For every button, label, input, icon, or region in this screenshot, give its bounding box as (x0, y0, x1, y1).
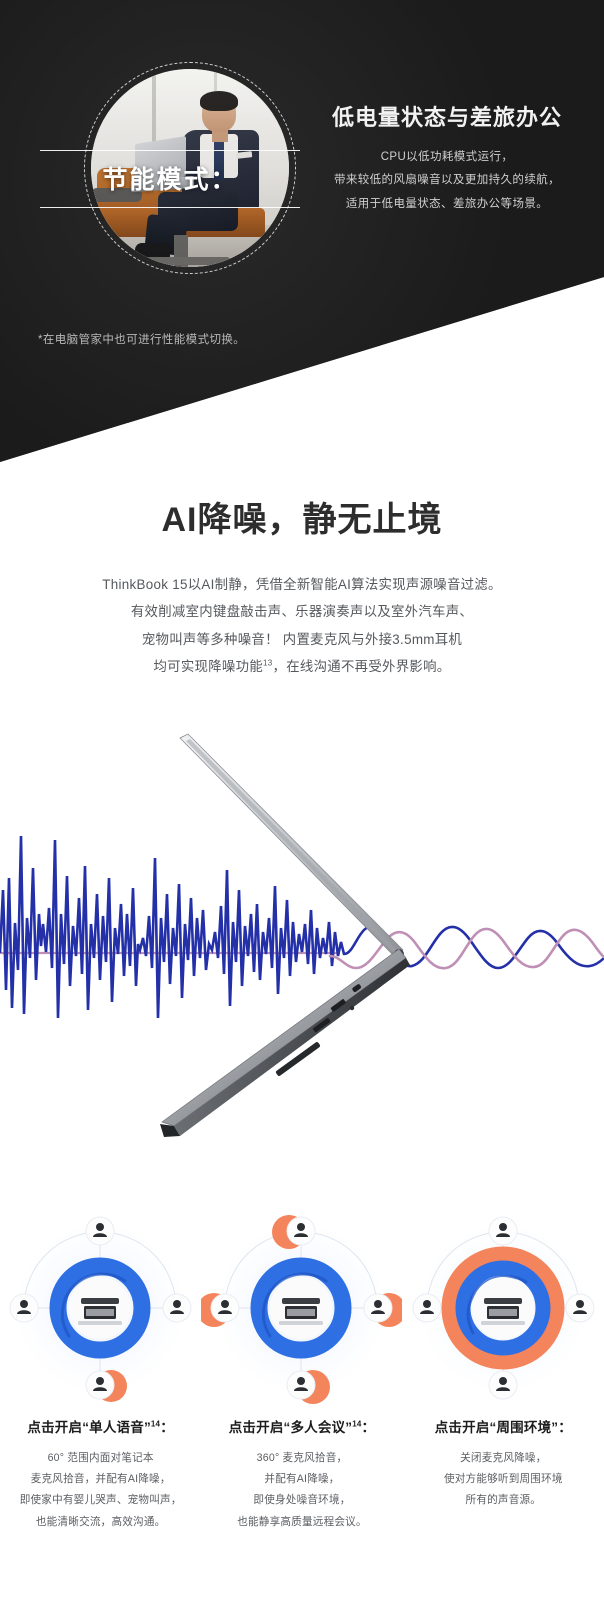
panel-body-line: 即使身处噪音环境， (201, 1490, 402, 1511)
person-badge-east (566, 1294, 594, 1322)
panel-body-ambient-environment: 关闭麦克风降噪， 使对方能够听到周围环境 所有的声音源。 (403, 1448, 604, 1512)
mic-mode-panel-single-voice[interactable]: 点击开启“单人语音”14： 60° 范围内面对笔记本 麦克风拾音，并配有AI降噪… (0, 1205, 201, 1600)
person-badge-south (86, 1371, 114, 1399)
panel-body-multi-conference: 360° 麦克风拾音， 并配有AI降噪， 即使身处噪音环境， 也能静享高质量远程… (201, 1448, 402, 1533)
person-badge-east (163, 1294, 191, 1322)
ai-section-title: AI降噪，静无止境 (0, 492, 604, 541)
power-mode-description-line: 适用于低电量状态、差旅办公等场景。 (300, 193, 594, 217)
panel-body-line: 麦克风拾音，并配有AI降噪， (0, 1469, 201, 1490)
mic-mode-panels: 点击开启“单人语音”14： 60° 范围内面对笔记本 麦克风拾音，并配有AI降噪… (0, 1205, 604, 1600)
power-mode-badge: 节能模式： (40, 150, 300, 208)
hero-waveform-laptop (0, 718, 604, 1188)
panel-body-line: 也能静享高质量远程会议。 (201, 1512, 402, 1533)
person-badge-east (364, 1294, 392, 1322)
person-badge-north (86, 1217, 114, 1245)
panel-body-line: 也能清晰交流，高效沟通。 (0, 1512, 201, 1533)
panel-caption-ambient-environment: 点击开启“周围环境”： (403, 1416, 604, 1436)
power-mode-description-line: CPU以低功耗模式运行， (300, 146, 594, 170)
ai-section-body: ThinkBook 15以AI制静，凭借全新智能AI算法实现声源噪音过滤。 有效… (0, 571, 604, 681)
panel-body-line: 360° 麦克风拾音， (201, 1448, 402, 1469)
diagram-ambient-environment[interactable] (403, 1205, 604, 1410)
panel-body-line: 关闭麦克风降噪， (403, 1448, 604, 1469)
power-mode-section: 节能模式： 低电量状态与差旅办公 CPU以低功耗模式运行， 带来较低的风扇噪音以… (0, 0, 604, 470)
person-badge-west (211, 1294, 239, 1322)
person-badge-west (413, 1294, 441, 1322)
noise-waveform (0, 836, 344, 1018)
panel-body-line: 所有的声音源。 (403, 1490, 604, 1511)
ai-body-last-prefix: 均可实现降噪功能 (153, 659, 263, 674)
panel-body-line: 并配有AI降噪， (201, 1469, 402, 1490)
power-mode-badge-label: 节能模式： (40, 160, 300, 196)
laptop-brand-dot (350, 1006, 354, 1010)
person-badge-west (10, 1294, 38, 1322)
caption-suffix: ： (558, 1420, 572, 1435)
panel-caption-multi-conference: 点击开启“多人会议”14： (201, 1416, 402, 1436)
panel-body-line: 即使家中有婴儿哭声、宠物叫声， (0, 1490, 201, 1511)
power-mode-title: 低电量状态与差旅办公 (300, 104, 594, 132)
laptop-base-edge (174, 958, 410, 1136)
power-mode-description-line: 带来较低的风扇噪音以及更加持久的续航， (300, 169, 594, 193)
hero-illustration (0, 718, 604, 1188)
panel-caption-single-voice: 点击开启“单人语音”14： (0, 1416, 201, 1436)
footnote-marker: 14 (151, 1420, 160, 1429)
ai-body-line: 宠物叫声等多种噪音！ 内置麦克风与外接3.5mm耳机 (0, 626, 604, 653)
badge-rule-top (40, 150, 300, 151)
person-badge-south (489, 1371, 517, 1399)
caption-prefix: 点击开启“周围环境” (435, 1420, 559, 1435)
ai-body-last-suffix: ，在线沟通不再受外界影响。 (273, 659, 451, 674)
person-badge-north (287, 1217, 315, 1245)
diagram-multi-conference[interactable] (201, 1205, 402, 1410)
person-badge-south (287, 1371, 315, 1399)
footnote-marker: 13 (263, 659, 273, 668)
caption-suffix: ： (160, 1420, 174, 1435)
person-badge-north (489, 1217, 517, 1245)
panel-body-line: 使对方能够听到周围环境 (403, 1469, 604, 1490)
ai-body-line: ThinkBook 15以AI制静，凭借全新智能AI算法实现声源噪音过滤。 (0, 571, 604, 598)
panel-body-single-voice: 60° 范围内面对笔记本 麦克风拾音，并配有AI降噪， 即使家中有婴儿哭声、宠物… (0, 1448, 201, 1533)
caption-prefix: 点击开启“单人语音” (27, 1420, 151, 1435)
ai-body-line-last: 均可实现降噪功能13，在线沟通不再受外界影响。 (0, 653, 604, 680)
laptop-base (162, 949, 406, 1126)
panel-body-line: 60° 范围内面对笔记本 (0, 1448, 201, 1469)
mic-mode-panel-multi-conference[interactable]: 点击开启“多人会议”14： 360° 麦克风拾音， 并配有AI降噪， 即使身处噪… (201, 1205, 402, 1600)
power-mode-description: CPU以低功耗模式运行， 带来较低的风扇噪音以及更加持久的续航， 适用于低电量状… (300, 146, 594, 217)
mic-mode-panel-ambient-environment[interactable]: 点击开启“周围环境”： 关闭麦克风降噪， 使对方能够听到周围环境 所有的声音源。 (403, 1205, 604, 1600)
caption-suffix: ： (362, 1420, 376, 1435)
diagram-single-voice[interactable] (0, 1205, 201, 1410)
footnote-marker: 14 (352, 1420, 361, 1429)
badge-rule-bottom (40, 207, 300, 208)
caption-prefix: 点击开启“多人会议” (229, 1420, 353, 1435)
ai-noise-reduction-section: AI降噪，静无止境 ThinkBook 15以AI制静，凭借全新智能AI算法实现… (0, 470, 604, 681)
power-mode-copy: 低电量状态与差旅办公 CPU以低功耗模式运行， 带来较低的风扇噪音以及更加持久的… (300, 104, 594, 216)
power-mode-footnote: *在电脑管家中也可进行性能模式切换。 (38, 331, 245, 347)
ai-body-line: 有效削减室内键盘敲击声、乐器演奏声以及室外汽车声、 (0, 598, 604, 625)
